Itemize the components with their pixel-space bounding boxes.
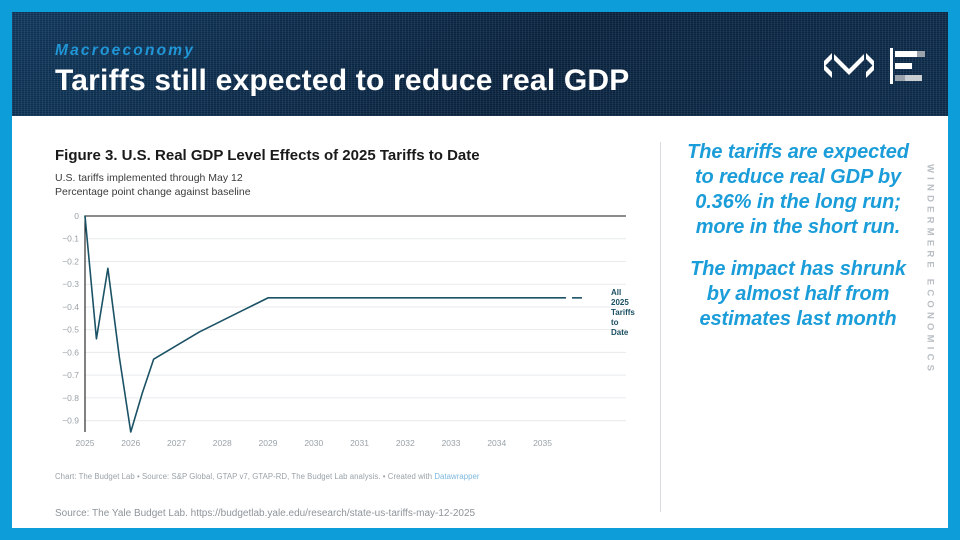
header-eyebrow: Macroeconomy: [55, 42, 195, 60]
source-line: Source: The Yale Budget Lab. https://bud…: [55, 508, 475, 519]
svg-text:2030: 2030: [304, 438, 323, 448]
vertical-brand-label: WINDERMERE ECONOMICS: [925, 164, 936, 375]
slide-header: Macroeconomy Tariffs still expected to r…: [12, 12, 948, 116]
page-title: Tariffs still expected to reduce real GD…: [55, 64, 630, 98]
svg-text:2032: 2032: [396, 438, 415, 448]
svg-text:−0.1: −0.1: [62, 234, 79, 244]
svg-text:−0.9: −0.9: [62, 416, 79, 426]
svg-text:2028: 2028: [213, 438, 232, 448]
svg-text:−0.7: −0.7: [62, 370, 79, 380]
svg-text:0: 0: [74, 211, 79, 221]
series-label-line1: All 2025: [611, 288, 635, 308]
chart-credit-text: Chart: The Budget Lab • Source: S&P Glob…: [55, 472, 434, 481]
chart-panel: Figure 3. U.S. Real GDP Level Effects of…: [12, 116, 648, 528]
figure-subtitle: U.S. tariffs implemented through May 12 …: [55, 172, 251, 199]
content-card: Macroeconomy Tariffs still expected to r…: [12, 12, 948, 528]
vertical-brand-text: WINDERMERE ECONOMICS: [910, 150, 950, 390]
svg-text:−0.8: −0.8: [62, 393, 79, 403]
windermere-w-logo: [822, 49, 876, 83]
bar-chart-icon: [890, 48, 930, 84]
figure-title: Figure 3. U.S. Real GDP Level Effects of…: [55, 147, 480, 164]
svg-text:−0.6: −0.6: [62, 347, 79, 357]
commentary-panel: The tariffs are expected to reduce real …: [684, 140, 912, 332]
svg-text:2026: 2026: [121, 438, 140, 448]
figure-subtitle-line2: Percentage point change against baseline: [55, 186, 251, 200]
datawrapper-link[interactable]: Datawrapper: [434, 472, 479, 481]
chart-credit: Chart: The Budget Lab • Source: S&P Glob…: [55, 472, 480, 481]
svg-text:−0.4: −0.4: [62, 302, 79, 312]
line-chart-plot: 0−0.1−0.2−0.3−0.4−0.5−0.6−0.7−0.8−0.9202…: [55, 208, 630, 458]
svg-text:−0.3: −0.3: [62, 279, 79, 289]
slide: Macroeconomy Tariffs still expected to r…: [0, 0, 960, 540]
svg-text:2033: 2033: [442, 438, 461, 448]
panel-divider: [660, 142, 661, 512]
commentary-paragraph-1: The tariffs are expected to reduce real …: [684, 140, 912, 240]
series-label-line2: Tariffs to Date: [611, 308, 635, 338]
svg-text:−0.5: −0.5: [62, 325, 79, 335]
svg-text:2027: 2027: [167, 438, 186, 448]
svg-text:2034: 2034: [487, 438, 506, 448]
figure-subtitle-line1: U.S. tariffs implemented through May 12: [55, 172, 251, 186]
svg-text:2031: 2031: [350, 438, 369, 448]
commentary-paragraph-2: The impact has shrunk by almost half fro…: [684, 257, 912, 332]
chart-svg: 0−0.1−0.2−0.3−0.4−0.5−0.6−0.7−0.8−0.9202…: [55, 208, 630, 458]
series-label: All 2025 Tariffs to Date: [611, 288, 635, 338]
svg-text:2035: 2035: [533, 438, 552, 448]
brand-logo-group: [822, 48, 930, 84]
svg-text:−0.2: −0.2: [62, 256, 79, 266]
svg-text:2025: 2025: [76, 438, 95, 448]
svg-text:2029: 2029: [259, 438, 278, 448]
